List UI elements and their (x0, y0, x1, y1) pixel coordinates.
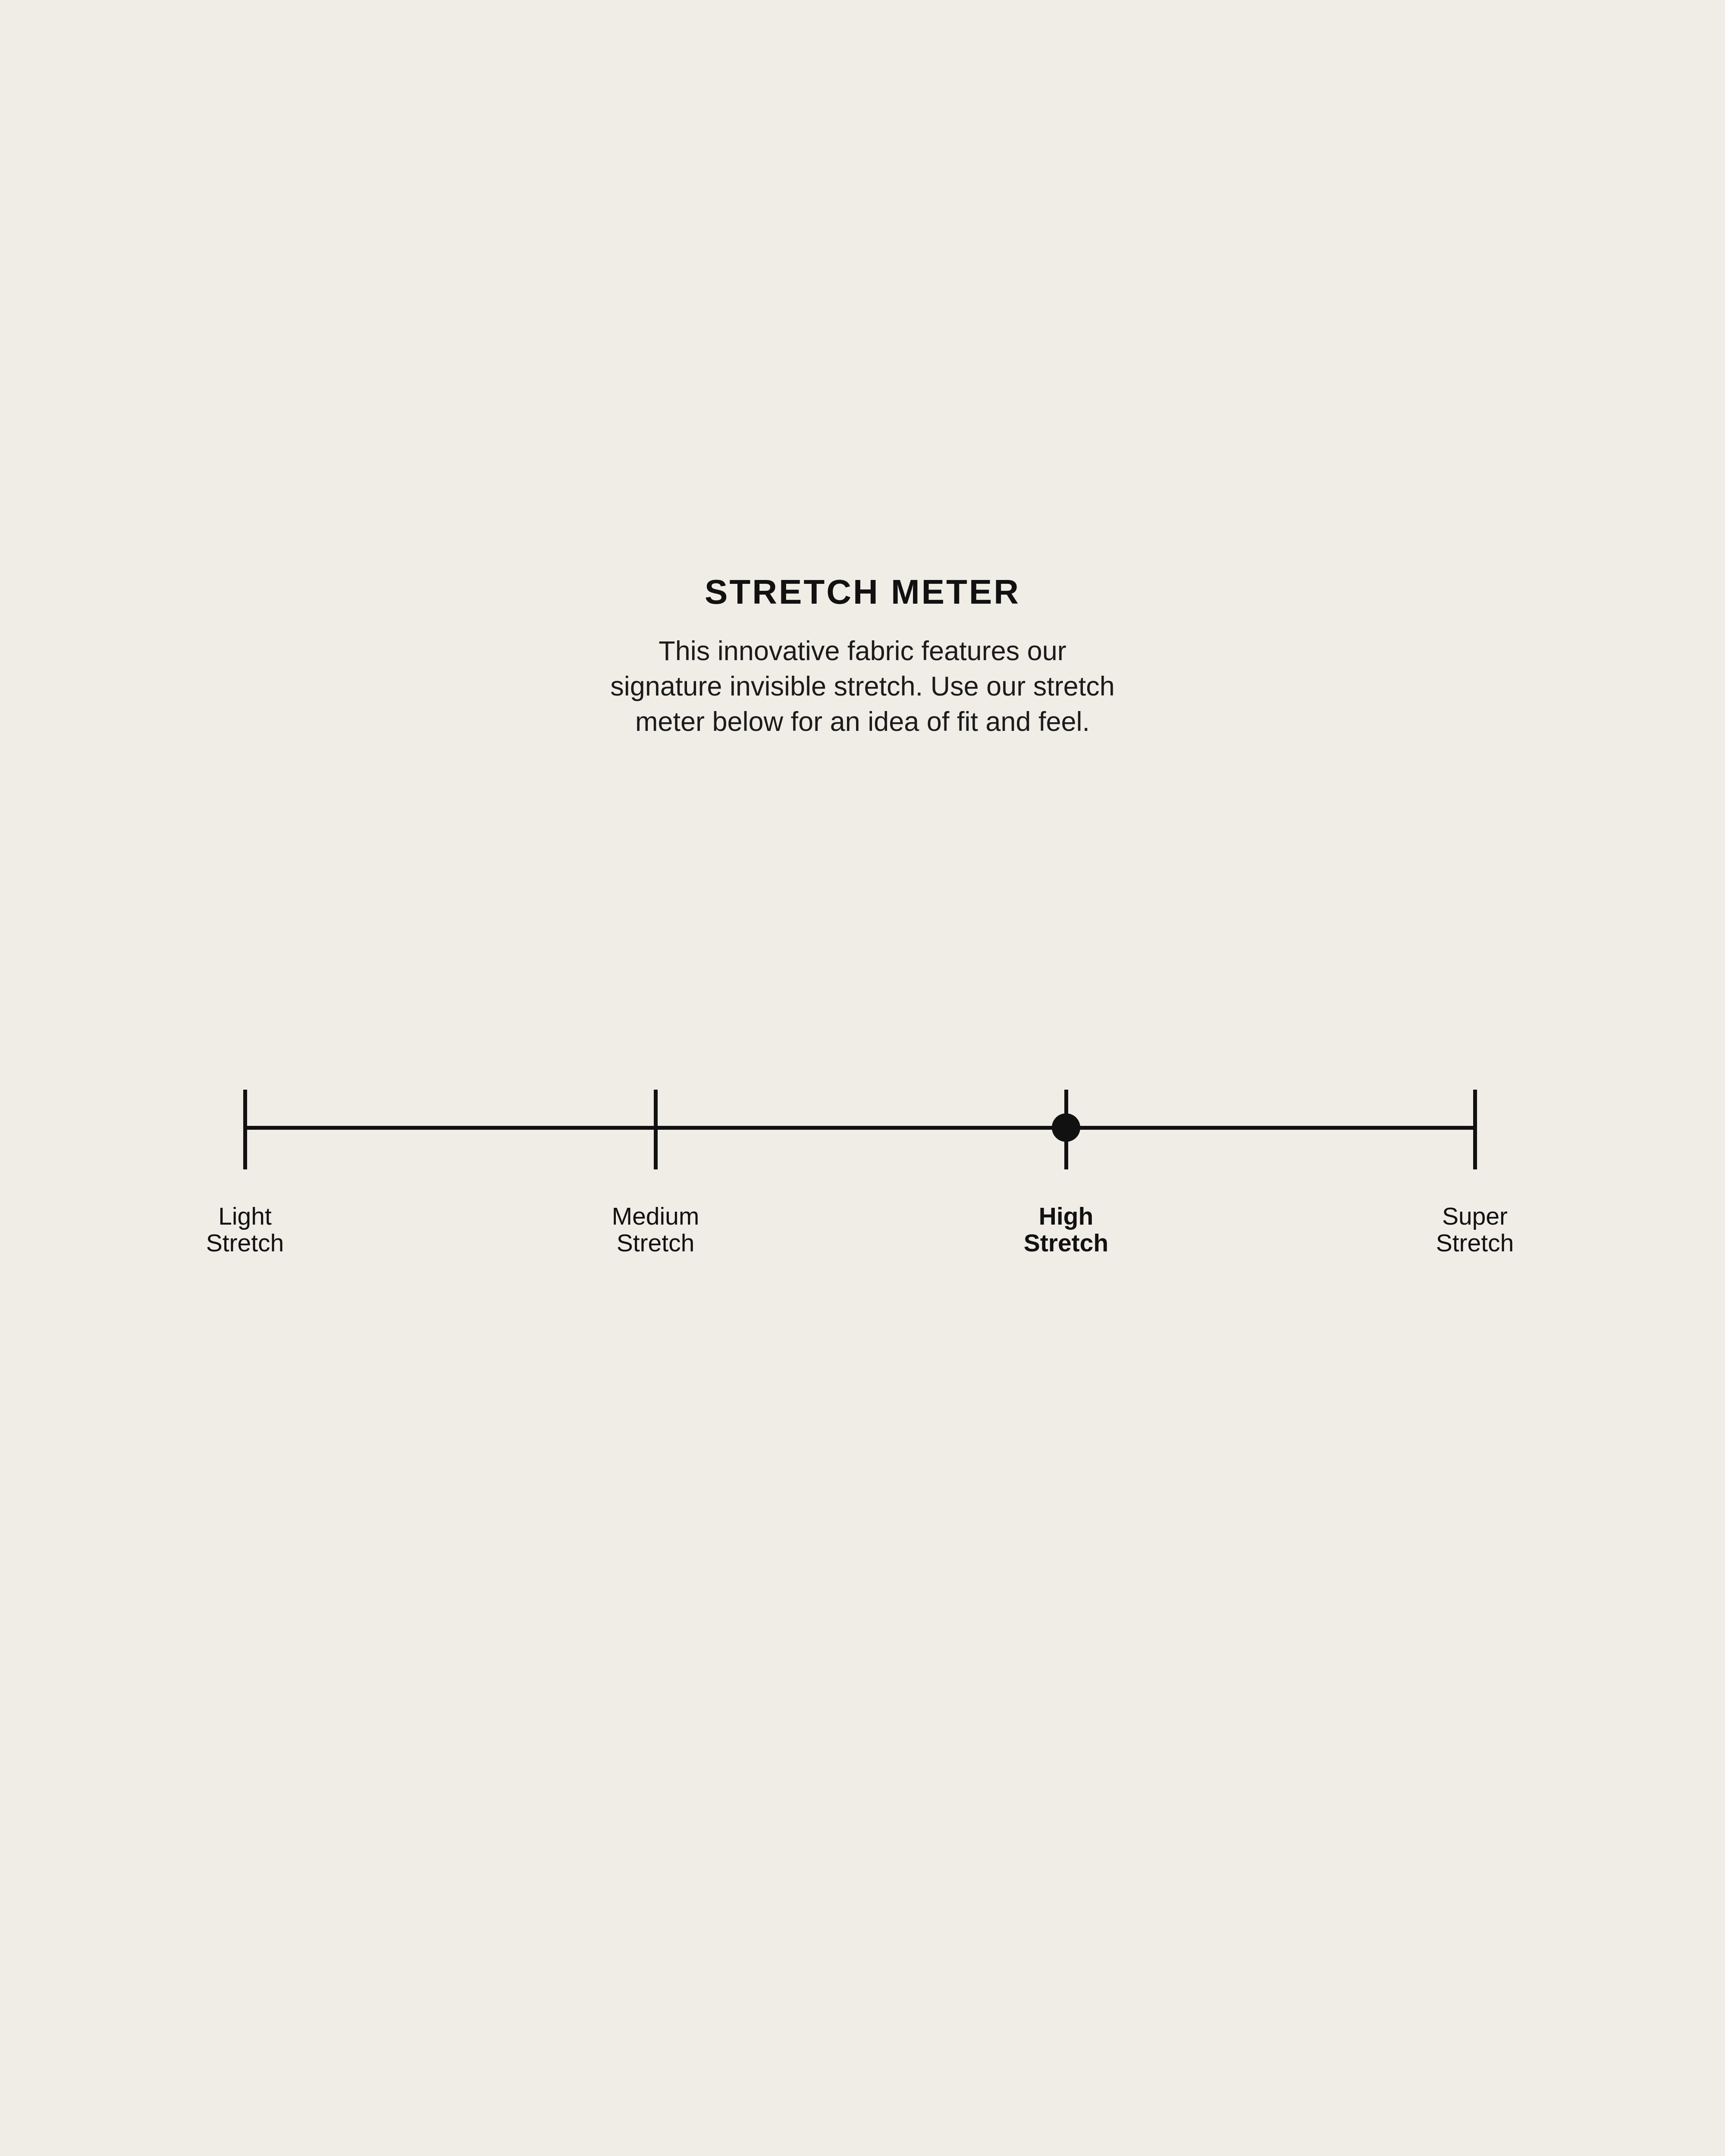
meter-axis-line (245, 1126, 1475, 1130)
meter-label-super-stretch-line1: Super (1341, 1203, 1609, 1230)
page-title: STRETCH METER (0, 573, 1725, 611)
meter-marker-dot[interactable] (1052, 1113, 1080, 1142)
meter-tick-super-stretch[interactable] (1473, 1090, 1477, 1169)
meter-tick-light-stretch[interactable] (243, 1090, 247, 1169)
meter-labels: Light Stretch Medium Stretch High Stretc… (0, 1203, 1725, 1281)
meter-label-light-stretch[interactable]: Light Stretch (111, 1203, 379, 1257)
stretch-meter-scale[interactable] (245, 1090, 1475, 1169)
meter-label-high-stretch-line2: Stretch (932, 1230, 1200, 1257)
description-line-1: This innovative fabric features our (0, 634, 1725, 669)
stretch-meter-panel: STRETCH METER This innovative fabric fea… (0, 0, 1725, 2156)
meter-tick-medium-stretch[interactable] (654, 1090, 658, 1169)
description-line-2: signature invisible stretch. Use our str… (0, 669, 1725, 705)
meter-label-light-stretch-line2: Stretch (111, 1230, 379, 1257)
meter-label-super-stretch-line2: Stretch (1341, 1230, 1609, 1257)
meter-label-medium-stretch[interactable]: Medium Stretch (522, 1203, 789, 1257)
meter-label-light-stretch-line1: Light (111, 1203, 379, 1230)
meter-label-high-stretch-line1: High (932, 1203, 1200, 1230)
description-line-3: meter below for an idea of fit and feel. (0, 705, 1725, 740)
meter-label-medium-stretch-line1: Medium (522, 1203, 789, 1230)
page-description: This innovative fabric features our sign… (0, 634, 1725, 740)
meter-label-super-stretch[interactable]: Super Stretch (1341, 1203, 1609, 1257)
meter-label-high-stretch[interactable]: High Stretch (932, 1203, 1200, 1257)
header-block: STRETCH METER This innovative fabric fea… (0, 573, 1725, 740)
meter-label-medium-stretch-line2: Stretch (522, 1230, 789, 1257)
